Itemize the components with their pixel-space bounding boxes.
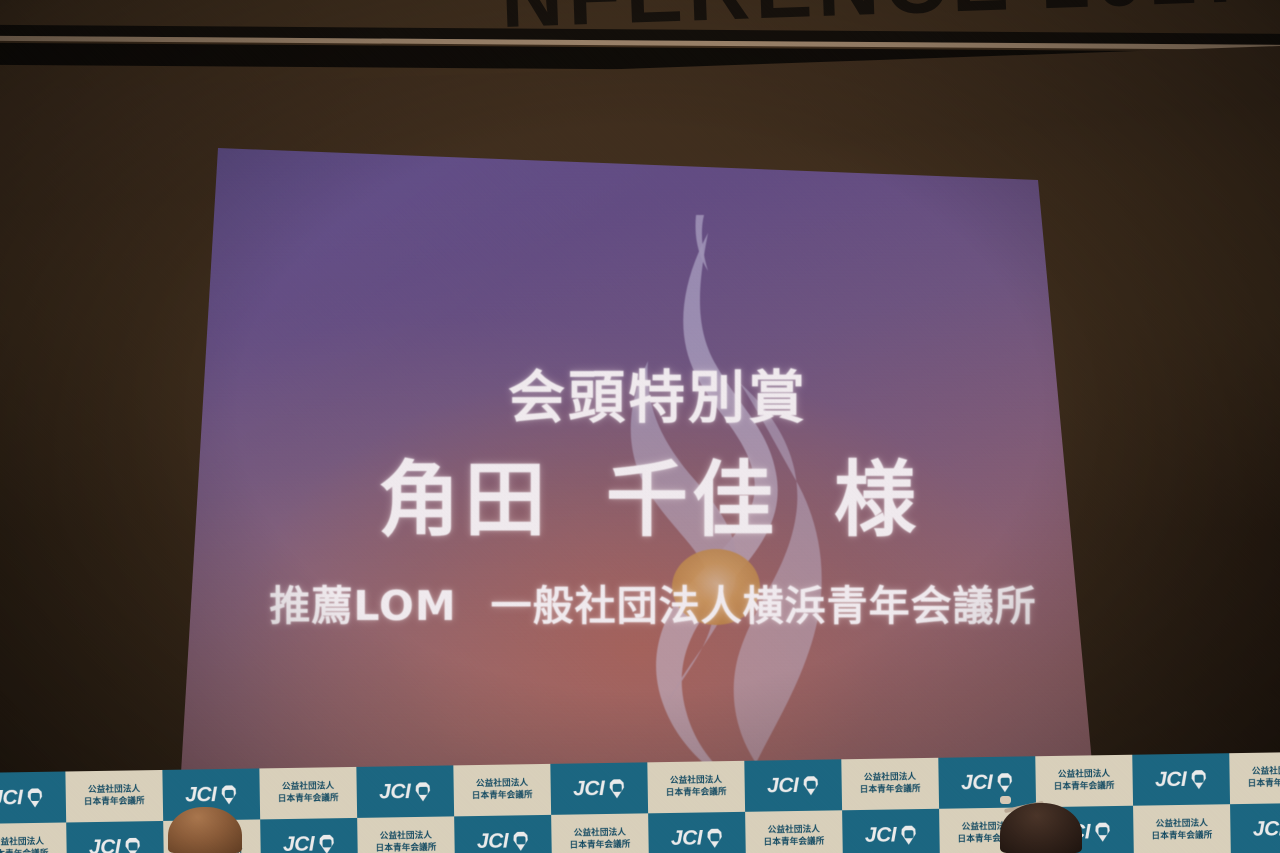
jci-jp-line1: 公益社団法人 bbox=[1248, 766, 1280, 778]
jci-logo-cell: JCI bbox=[648, 812, 746, 853]
jci-japanese-name: 公益社団法人日本青年会議所 bbox=[1054, 769, 1115, 793]
jci-text-cell: 公益社団法人日本青年会議所 bbox=[0, 822, 67, 853]
jci-wordmark: JCI bbox=[477, 829, 509, 853]
jci-jp-line1: 公益社団法人 bbox=[1151, 819, 1212, 831]
jci-japanese-name: 公益社団法人日本青年会議所 bbox=[0, 837, 49, 853]
photo-stage: NFERENCE 2017 bbox=[0, 0, 1280, 853]
jci-jp-line2: 日本青年会議所 bbox=[472, 790, 533, 802]
jci-shield-icon bbox=[900, 825, 917, 845]
jci-jp-line1: 公益社団法人 bbox=[278, 781, 339, 793]
jci-logo-cell: JCI bbox=[1132, 753, 1230, 806]
recipient-family-name: 角田 bbox=[378, 453, 550, 548]
jci-japanese-name: 公益社団法人日本青年会議所 bbox=[1151, 819, 1212, 843]
microphone-head-icon bbox=[1000, 796, 1011, 804]
jci-japanese-name: 公益社団法人日本青年会議所 bbox=[1248, 766, 1280, 790]
jci-shield-icon bbox=[26, 787, 43, 807]
jci-japanese-name: 公益社団法人日本青年会議所 bbox=[84, 784, 145, 808]
jci-jp-line2: 日本青年会議所 bbox=[376, 842, 437, 853]
jci-wordmark: JCI bbox=[671, 826, 703, 850]
jci-logo-cell: JCI bbox=[0, 771, 66, 824]
jci-jp-line2: 日本青年会議所 bbox=[764, 836, 825, 848]
jci-shield-icon bbox=[706, 828, 723, 848]
jci-jp-line2: 日本青年会議所 bbox=[278, 793, 339, 805]
jci-logo: JCI bbox=[671, 826, 724, 851]
jci-jp-line2: 日本青年会議所 bbox=[1248, 777, 1280, 789]
jci-logo: JCI bbox=[961, 770, 1014, 795]
jci-wordmark: JCI bbox=[0, 786, 23, 810]
jci-logo-cell: JCI bbox=[260, 818, 358, 853]
jci-wordmark: JCI bbox=[1253, 817, 1280, 841]
jci-shield-icon bbox=[802, 775, 819, 795]
jci-shield-icon bbox=[124, 837, 141, 853]
jci-shield-icon bbox=[1190, 769, 1207, 789]
jci-logo: JCI bbox=[0, 785, 44, 810]
jci-shield-icon bbox=[512, 831, 529, 851]
jci-text-cell: 公益社団法人日本青年会議所 bbox=[647, 761, 745, 814]
jci-jp-line1: 公益社団法人 bbox=[0, 837, 49, 849]
jci-jp-line1: 公益社団法人 bbox=[666, 775, 727, 787]
jci-text-cell: 公益社団法人日本青年会議所 bbox=[65, 770, 163, 823]
jci-logo: JCI bbox=[283, 832, 336, 853]
seated-person-right bbox=[1000, 803, 1082, 853]
jci-logo: JCI bbox=[865, 823, 918, 848]
lom-label: 推薦LOM bbox=[269, 582, 456, 630]
lom-name: 一般社団法人横浜青年会議所 bbox=[491, 582, 1037, 630]
jci-logo-cell: JCI bbox=[938, 756, 1036, 809]
jci-jp-line1: 公益社団法人 bbox=[763, 825, 824, 837]
jci-japanese-name: 公益社団法人日本青年会議所 bbox=[278, 781, 339, 805]
jci-logo-cell: JCI bbox=[1230, 803, 1280, 853]
jci-logo-cell: JCI bbox=[842, 809, 940, 853]
jci-text-cell: 公益社団法人日本青年会議所 bbox=[1035, 755, 1133, 808]
jci-logo: JCI bbox=[573, 776, 626, 801]
jci-text-cell: 公益社団法人日本青年会議所 bbox=[841, 758, 939, 811]
jci-text-cell: 公益社団法人日本青年会議所 bbox=[357, 816, 455, 853]
jci-jp-line1: 公益社団法人 bbox=[860, 772, 921, 784]
jci-shield-icon bbox=[414, 781, 431, 801]
jci-text-cell: 公益社団法人日本青年会議所 bbox=[745, 810, 843, 853]
jci-wordmark: JCI bbox=[283, 832, 315, 853]
jci-logo-cell: JCI bbox=[550, 762, 648, 815]
jci-logo-cell: JCI bbox=[66, 821, 164, 853]
jci-wordmark: JCI bbox=[379, 780, 411, 804]
jci-japanese-name: 公益社団法人日本青年会議所 bbox=[763, 825, 824, 849]
jci-text-cell: 公益社団法人日本青年会議所 bbox=[453, 764, 551, 817]
jci-logo: JCI bbox=[477, 829, 530, 853]
recipient-given-name: 千佳 bbox=[606, 453, 778, 548]
jci-logo: JCI bbox=[185, 782, 238, 807]
jci-wordmark: JCI bbox=[1155, 767, 1187, 791]
jci-jp-line2: 日本青年会議所 bbox=[1054, 781, 1115, 793]
jci-jp-line2: 日本青年会議所 bbox=[84, 796, 145, 808]
jci-jp-line1: 公益社団法人 bbox=[375, 831, 436, 843]
jci-shield-icon bbox=[1094, 822, 1111, 842]
jci-japanese-name: 公益社団法人日本青年会議所 bbox=[666, 775, 727, 799]
jci-jp-line1: 公益社団法人 bbox=[569, 828, 630, 840]
jci-text-cell: 公益社団法人日本青年会議所 bbox=[259, 767, 357, 820]
jci-wordmark: JCI bbox=[185, 783, 217, 807]
jci-jp-line2: 日本青年会議所 bbox=[666, 787, 727, 799]
jci-wordmark: JCI bbox=[767, 773, 799, 797]
jci-logo: JCI bbox=[767, 773, 820, 798]
jci-japanese-name: 公益社団法人日本青年会議所 bbox=[472, 778, 533, 802]
jci-text-cell: 公益社団法人日本青年会議所 bbox=[1229, 752, 1280, 805]
jci-jp-line2: 日本青年会議所 bbox=[0, 848, 49, 853]
jci-japanese-name: 公益社団法人日本青年会議所 bbox=[375, 831, 436, 853]
jci-japanese-name: 公益社団法人日本青年会議所 bbox=[860, 772, 921, 796]
jci-wordmark: JCI bbox=[89, 835, 121, 853]
jci-logo: JCI bbox=[379, 779, 432, 804]
jci-jp-line1: 公益社団法人 bbox=[84, 784, 145, 796]
jci-logo: JCI bbox=[1253, 817, 1280, 842]
jci-shield-icon bbox=[996, 772, 1013, 792]
jci-logo-cell: JCI bbox=[744, 759, 842, 812]
jci-logo-cell: JCI bbox=[454, 815, 552, 853]
jci-jp-line2: 日本青年会議所 bbox=[570, 839, 631, 851]
jci-japanese-name: 公益社団法人日本青年会議所 bbox=[569, 828, 630, 852]
jci-shield-icon bbox=[318, 834, 335, 853]
jci-wordmark: JCI bbox=[573, 777, 605, 801]
jci-jp-line1: 公益社団法人 bbox=[1054, 769, 1115, 781]
jci-jp-line1: 公益社団法人 bbox=[472, 778, 533, 790]
jci-shield-icon bbox=[220, 784, 237, 804]
jci-wordmark: JCI bbox=[865, 823, 897, 847]
seated-person-left bbox=[168, 807, 242, 853]
jci-text-cell: 公益社団法人日本青年会議所 bbox=[1133, 804, 1231, 853]
jci-wordmark: JCI bbox=[961, 770, 993, 794]
jci-shield-icon bbox=[608, 778, 625, 798]
jci-jp-line2: 日本青年会議所 bbox=[860, 784, 921, 796]
recipient-honorific: 様 bbox=[834, 453, 920, 548]
jci-logo: JCI bbox=[1155, 767, 1208, 792]
jci-logo: JCI bbox=[89, 835, 142, 853]
jci-jp-line2: 日本青年会議所 bbox=[1152, 830, 1213, 842]
jci-logo-cell: JCI bbox=[356, 765, 454, 818]
jci-text-cell: 公益社団法人日本青年会議所 bbox=[551, 813, 649, 853]
